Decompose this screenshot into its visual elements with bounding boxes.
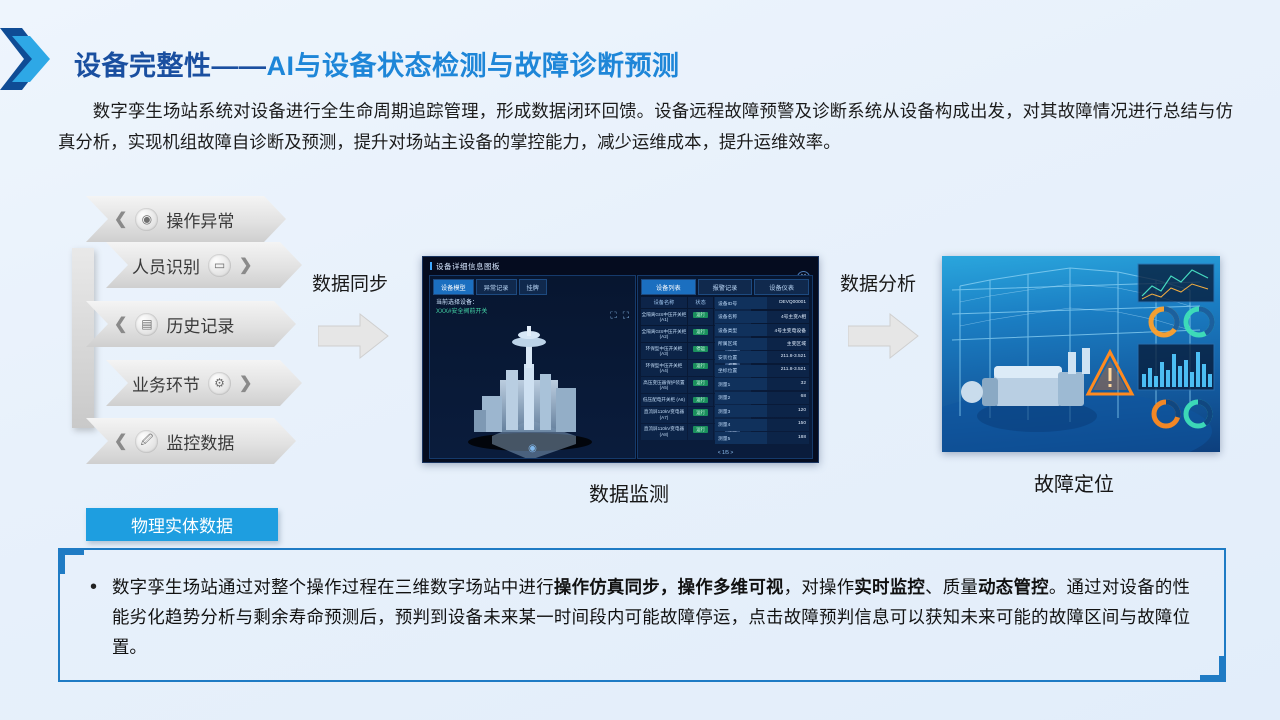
detail-key: 测量2 (715, 392, 767, 404)
chevron-label-4: 业务环节 (132, 371, 200, 396)
detail-value: 120 (767, 405, 809, 417)
flow-label-data-analysis: 数据分析 (840, 269, 916, 296)
detail-row: 坐标位置211.8-3.521 (715, 365, 809, 377)
chevron-item-2[interactable]: 人员识别 ▭ ❯ (106, 242, 302, 288)
flow-label-data-sync: 数据同步 (312, 269, 388, 296)
chevron-item-5[interactable]: ❮ 🖉 监控数据 (86, 418, 296, 464)
cell-name: 直流屏110kV变电器 (A8) (641, 424, 687, 440)
tab-device-model[interactable]: 设备模型 (433, 279, 474, 295)
detail-key: 设备名称 (715, 311, 767, 323)
chevron-label-3: 历史记录 (166, 312, 234, 337)
detail-value: 211.8-3.521 (767, 365, 809, 377)
cell-status: 运行 (688, 326, 713, 342)
chevron-label-1: 操作异常 (166, 207, 234, 232)
cell-status: 运行 (688, 309, 713, 325)
summary-callout: • 数字孪生场站通过对整个操作过程在三维数字场站中进行操作仿真同步，操作多维可视… (58, 548, 1226, 682)
device-detail-side-table: 设备ID号DEVQ00001 设备名称4号主变A相 设备类型4号主变电设备 所属… (715, 297, 809, 446)
callout-seg-4: 、质量 (925, 577, 978, 597)
detail-value: 4号主变电设备 (767, 324, 809, 336)
detail-key: 安装位置 (715, 351, 767, 363)
detail-value: 4号主变A相 (767, 311, 809, 323)
detail-key: 所属区域 (715, 338, 767, 350)
detail-row: 设备类型4号主变电设备 (715, 324, 809, 336)
cell-status: 运行 (688, 360, 713, 376)
chevron-label-5: 监控数据 (166, 429, 234, 454)
detail-key: 设备ID号 (715, 297, 767, 309)
gear-icon: ⚙ (208, 372, 231, 395)
callout-corner-top-left (58, 548, 84, 574)
tab-alarm-records[interactable]: 报警记录 (698, 279, 753, 295)
detail-row: 设备名称4号主变A相 (715, 311, 809, 323)
dashboard-screenshot: 设备详细信息图板 ✕ 设备模型 异常记录 挂牌 当前选择设备： XXX#安全阀前… (422, 256, 819, 463)
detail-key: 测量5 (715, 432, 767, 444)
detail-value: 188 (767, 432, 809, 444)
detail-value: 211.8-3.521 (767, 351, 809, 363)
dashboard-selected-device: 当前选择设备： XXX#安全阀前开关 (430, 295, 635, 317)
table-pager[interactable]: < 1/5 > (637, 450, 814, 456)
cell-name: 环保型中压开关柜 (A4) (641, 360, 687, 376)
tab-device-meters[interactable]: 设备仪表 (754, 279, 809, 295)
cell-name: 直流屏110kV变电器 (A7) (641, 407, 687, 423)
chevron-left-arrow-icon: ❮ (114, 431, 127, 451)
globe-icon: ◉ (135, 208, 158, 231)
detail-key: 测量1 (715, 378, 767, 390)
detail-row: 测量132 (715, 378, 809, 390)
detail-value: 150 (767, 419, 809, 431)
physical-entity-data-tag: 物理实体数据 (86, 508, 278, 541)
play-icon[interactable]: ◉ (430, 443, 635, 454)
dashboard-right-tabs: 设备列表 报警记录 设备仪表 (638, 276, 812, 297)
callout-corner-bottom-right (1200, 656, 1226, 682)
fault-location-screenshot (942, 256, 1220, 452)
chevron-item-4[interactable]: 业务环节 ⚙ ❯ (106, 360, 302, 406)
cell-status: 运行 (688, 424, 713, 440)
detail-row: 安装位置211.8-3.521 (715, 351, 809, 363)
detail-key: 坐标位置 (715, 365, 767, 377)
chevron-label-2: 人员识别 (132, 253, 200, 278)
callout-text: 数字孪生场站通过对整个操作过程在三维数字场站中进行操作仿真同步，操作多维可视，对… (112, 572, 1190, 662)
process-chevron-stack: ❮ ◉ 操作异常 人员识别 ▭ ❯ ❮ ▤ 历史记录 业务环节 ⚙ ❯ ❮ 🖉 … (62, 196, 352, 486)
column-status: 状态 (688, 297, 713, 308)
chevron-spine (72, 248, 94, 428)
selected-device-value: XXX#安全阀前开关 (436, 309, 487, 315)
detail-row: 测量3120 (715, 405, 809, 417)
link-icon: 🖉 (135, 430, 158, 453)
physical-entity-data-label: 物理实体数据 (131, 512, 233, 537)
detail-row: 设备ID号DEVQ00001 (715, 297, 809, 309)
detail-value: DEVQ00001 (767, 297, 809, 309)
callout-seg-3: 实时监控 (854, 577, 925, 597)
caption-data-monitor: 数据监测 (589, 478, 669, 507)
page-title-accent: AI与设备状态检测与故障诊断预测 (267, 51, 680, 81)
device-3d-model (430, 318, 635, 458)
arrow-right-icon-2 (848, 312, 920, 360)
cell-name: 全隔离GIS中压开关柜 (A1) (641, 309, 687, 325)
intro-paragraph: 数字孪生场站系统对设备进行全生命周期追踪管理，形成数据闭环回馈。设备远程故障预警… (58, 96, 1233, 158)
callout-seg-0: 数字孪生场站通过对整个操作过程在三维数字场站中进行 (112, 577, 554, 597)
caption-fault-location: 故障定位 (1034, 468, 1114, 497)
page-title: 设备完整性——AI与设备状态检测与故障诊断预测 (74, 44, 680, 83)
detail-value: 主变区域 (767, 338, 809, 350)
cell-status: 运行 (688, 394, 713, 406)
dashboard-left-tabs: 设备模型 异常记录 挂牌 (430, 276, 635, 295)
logo-mark (0, 28, 56, 90)
detail-row: 测量5188 (715, 432, 809, 444)
chevron-right-arrow-icon: ❯ (239, 373, 252, 393)
tab-abnormal-records[interactable]: 异常记录 (476, 279, 517, 295)
page-title-main: 设备完整性—— (74, 51, 267, 81)
callout-bullet: • (90, 576, 97, 599)
cell-name: 环保型中压开关柜 (A3) (641, 343, 687, 359)
detail-row: 测量268 (715, 392, 809, 404)
tab-device-list[interactable]: 设备列表 (641, 279, 696, 295)
chevron-right-arrow-icon: ❯ (239, 255, 252, 275)
column-device-name: 设备名称 (641, 297, 687, 308)
chevron-item-1[interactable]: ❮ ◉ 操作异常 (86, 196, 286, 242)
callout-seg-2: ，对操作 (784, 577, 855, 597)
detail-key: 测量3 (715, 405, 767, 417)
chart-icon: ▤ (135, 313, 158, 336)
monitor-icon: ▭ (208, 254, 231, 277)
cell-name: 低压配电开关柜 (A6) (641, 394, 687, 406)
cell-status: 运行 (688, 407, 713, 423)
substation-3d-scene (942, 256, 1220, 452)
detail-value: 68 (767, 392, 809, 404)
arrow-right-icon-1 (318, 312, 390, 360)
cell-status: 停运 (688, 343, 713, 359)
chevron-left-arrow-icon: ❮ (114, 209, 127, 229)
chevron-item-3[interactable]: ❮ ▤ 历史记录 (86, 301, 296, 347)
selected-device-label: 当前选择设备： (436, 300, 478, 306)
detail-row: 测量4150 (715, 419, 809, 431)
detail-key: 测量4 (715, 419, 767, 431)
detail-row: 所属区域主变区域 (715, 338, 809, 350)
detail-key: 设备类型 (715, 324, 767, 336)
cell-status: 运行 (688, 377, 713, 393)
warning-triangle-icon (1088, 352, 1132, 394)
detail-value: 32 (767, 378, 809, 390)
cell-name: 高压变压器保护装置 (A5) (641, 377, 687, 393)
dashboard-title: 设备详细信息图板 (430, 261, 500, 272)
tab-tagging[interactable]: 挂牌 (519, 279, 547, 295)
callout-seg-5: 动态管控 (978, 577, 1049, 597)
chevron-left-arrow-icon: ❮ (114, 314, 127, 334)
dashboard-model-panel: 设备模型 异常记录 挂牌 当前选择设备： XXX#安全阀前开关 ⛶ ⛶ (429, 275, 636, 459)
cell-name: 全隔离GIS中压开关柜 (A2) (641, 326, 687, 342)
callout-seg-1: 操作仿真同步，操作多维可视 (554, 577, 784, 597)
